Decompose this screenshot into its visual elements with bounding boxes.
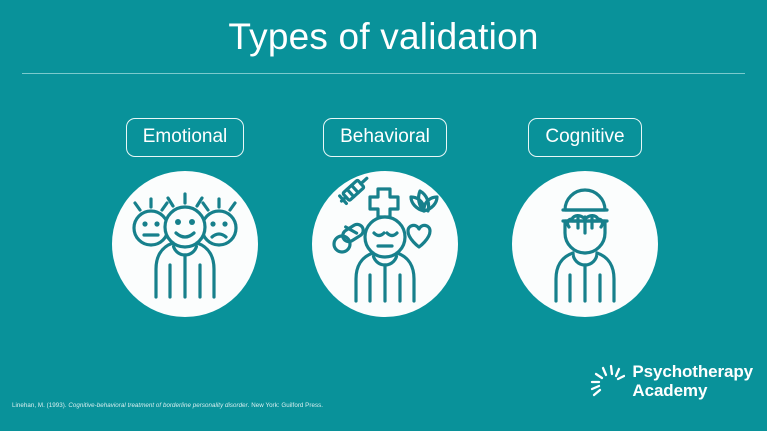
column-emotional: Emotional	[85, 118, 285, 317]
label-chip-cognitive: Cognitive	[528, 118, 641, 157]
page-title: Types of validation	[0, 14, 767, 60]
icon-circle-emotional	[112, 171, 258, 317]
heart-icon	[408, 225, 430, 247]
label-chip-behavioral: Behavioral	[323, 118, 447, 157]
three-faces-emotions-icon	[112, 171, 258, 317]
pills-capsule-icon	[334, 222, 366, 252]
syringe-icon	[338, 175, 370, 205]
citation-publisher: . New York: Guilford Press.	[248, 402, 323, 409]
title-divider	[22, 73, 745, 74]
open-head-brain-icon	[512, 171, 658, 317]
citation-book-title: Cognitive-behavioral treatment of border…	[68, 402, 247, 409]
label-chip-emotional: Emotional	[126, 118, 245, 157]
citation-author-year: Linehan, M. (1993).	[12, 402, 68, 409]
slide-canvas: Types of validation Emotional	[0, 0, 767, 431]
logo-line-1: Psychotherapy	[632, 362, 753, 381]
lotus-flower-icon	[411, 191, 437, 211]
brand-logo: Psychotherapy Academy	[589, 362, 753, 400]
column-behavioral: Behavioral	[285, 118, 485, 317]
icon-circle-cognitive	[512, 171, 658, 317]
column-cognitive: Cognitive	[485, 118, 685, 317]
sunburst-icon	[589, 364, 625, 398]
icon-circle-behavioral	[312, 171, 458, 317]
citation-reference: Linehan, M. (1993). Cognitive-behavioral…	[12, 401, 323, 410]
self-care-actions-icon	[312, 171, 458, 317]
logo-wordmark: Psychotherapy Academy	[632, 362, 753, 400]
logo-line-2: Academy	[632, 381, 753, 400]
